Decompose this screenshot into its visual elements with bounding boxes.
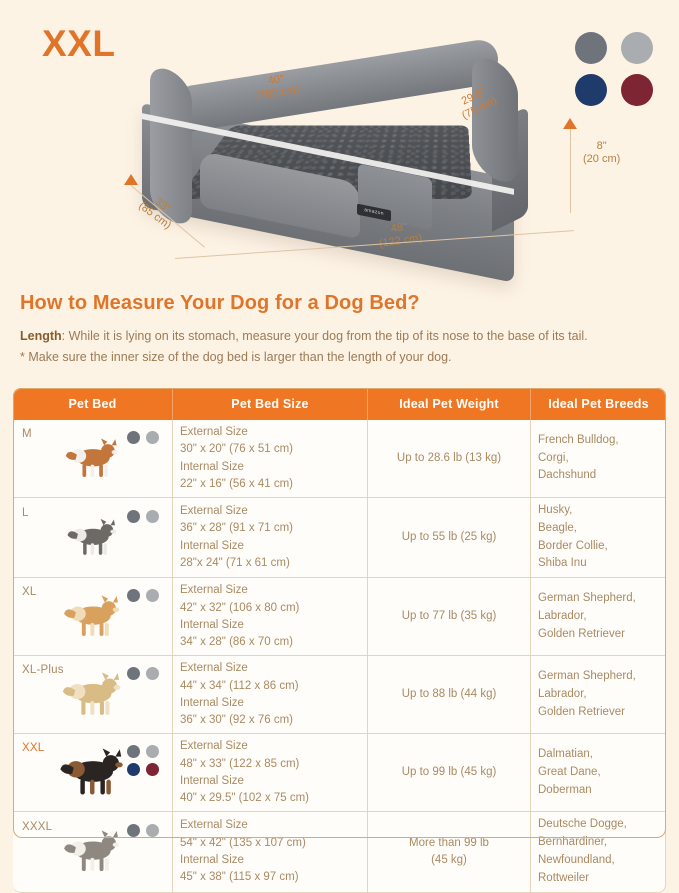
weight-value: Up to 88 lb (44 kg) [375,686,523,703]
internal-size-value: 34" x 28" (86 x 70 cm) [180,634,360,651]
row-swatch[interactable] [146,510,159,523]
leader-line-height [570,128,571,213]
cell-ideal-pet-weight: Up to 28.6 lb (13 kg) [368,420,531,498]
table-row[interactable]: XXL External Size 48" x 33" (122 x 85 cm… [13,734,666,812]
how-to-measure-section: How to Measure Your Dog for a Dog Bed? L… [20,292,660,369]
cell-pet-bed: XL [13,578,173,656]
external-size-label: External Size [180,660,360,677]
table-body: M External Size 30" x 20" (76 x 51 cm) I… [13,420,666,893]
hero-section: XXL amazon [0,0,679,278]
length-label: Length [20,329,62,343]
row-swatch-line [121,667,159,680]
weight-value: Up to 28.6 lb (13 kg) [375,450,523,467]
bed-size-label: XL [22,586,36,598]
internal-size-value: 40" x 29.5" (102 x 75 cm) [180,790,360,807]
breeds-value: Husky, Beagle, Border Collie, Shiba Inu [538,502,658,573]
external-size-value: 48" x 33" (122 x 85 cm) [180,756,360,773]
page-title: XXL [42,25,115,62]
cell-ideal-pet-breeds: French Bulldog, Corgi, Dachshund [531,420,666,498]
internal-size-label: Internal Size [180,459,360,476]
row-swatch-group[interactable] [121,745,159,781]
arrow-up-height-icon [563,118,577,129]
weight-value: Up to 55 lb (25 kg) [375,529,523,546]
column-header-pet-bed-size: Pet Bed Size [173,388,368,420]
cell-pet-bed: M [13,420,173,498]
row-swatch-group[interactable] [121,510,159,528]
bed-size-label: XXL [22,742,44,754]
external-size-value: 44" x 34" (112 x 86 cm) [180,678,360,695]
cell-ideal-pet-weight: Up to 55 lb (25 kg) [368,498,531,578]
cell-pet-bed-size: External Size 42" x 32" (106 x 80 cm) In… [173,578,368,656]
table-row[interactable]: XL External Size 42" x 32" (106 x 80 cm)… [13,578,666,656]
row-swatch-line [121,745,159,758]
cell-ideal-pet-weight: Up to 77 lb (35 kg) [368,578,531,656]
swatch-navy-blue[interactable] [575,74,607,106]
internal-size-label: Internal Size [180,695,360,712]
row-swatch-line [121,824,159,837]
bed-right-bolster [472,50,518,190]
row-swatch[interactable] [127,510,140,523]
length-text: : While it is lying on its stomach, meas… [62,329,588,343]
breeds-value: Dalmatian, Great Dane, Doberman [538,746,658,799]
cell-pet-bed-size: External Size 54" x 42" (135 x 107 cm) I… [173,812,368,892]
cell-pet-bed-size: External Size 30" x 20" (76 x 51 cm) Int… [173,420,368,498]
column-header-ideal-pet-breeds: Ideal Pet Breeds [531,388,666,420]
external-size-value: 54" x 42" (135 x 107 cm) [180,835,360,852]
internal-size-label: Internal Size [180,617,360,634]
cell-pet-bed-size: External Size 48" x 33" (122 x 85 cm) In… [173,734,368,812]
breeds-value: Deutsche Dogge, Bernhardiner, Newfoundla… [538,816,658,887]
table-row[interactable]: XL-Plus External Size 44" x 34" (112 x 8… [13,656,666,734]
breeds-value: German Shepherd, Labrador, Golden Retrie… [538,668,658,721]
cell-ideal-pet-breeds: Deutsche Dogge, Bernhardiner, Newfoundla… [531,812,666,892]
pet-bed-cell-inner: M [20,425,165,493]
dog-silhouette-icon [62,436,124,482]
internal-size-value: 22" x 16" (56 x 41 cm) [180,476,360,493]
how-to-length-line: Length: While it is lying on its stomach… [20,327,660,345]
internal-size-label: Internal Size [180,538,360,555]
cell-ideal-pet-breeds: Dalmatian, Great Dane, Doberman [531,734,666,812]
weight-value: More than 99 lb (45 kg) [375,835,523,870]
pet-bed-cell-inner: XL [20,583,165,651]
pet-bed-cell-inner: XL-Plus [20,661,165,729]
swatch-light-gray[interactable] [621,32,653,64]
swatch-row-top [575,32,661,64]
cell-pet-bed: XL-Plus [13,656,173,734]
row-swatch[interactable] [127,431,140,444]
column-header-ideal-pet-weight: Ideal Pet Weight [368,388,531,420]
pet-bed-cell-inner: XXL [20,739,165,807]
external-size-label: External Size [180,582,360,599]
dog-silhouette-icon [57,671,129,719]
cell-pet-bed: XXL [13,734,173,812]
internal-size-value: 28"x 24" (71 x 61 cm) [180,555,360,572]
row-swatch-group[interactable] [121,589,159,607]
external-size-value: 42" x 32" (106 x 80 cm) [180,600,360,617]
cell-pet-bed-size: External Size 36" x 28" (91 x 71 cm) Int… [173,498,368,578]
external-size-label: External Size [180,738,360,755]
weight-value: Up to 77 lb (35 kg) [375,608,523,625]
external-size-value: 30" x 20" (76 x 51 cm) [180,441,360,458]
dog-silhouette-icon [64,513,122,563]
internal-size-label: Internal Size [180,852,360,869]
dimension-height-cm: (20 cm) [583,153,620,166]
external-size-value: 36" x 28" (91 x 71 cm) [180,520,360,537]
internal-size-value: 45" x 38" (115 x 97 cm) [180,869,360,886]
cell-pet-bed: XXXL [13,812,173,892]
row-swatch[interactable] [146,824,159,837]
infographic-root: XXL amazon [0,0,679,849]
color-swatch-group[interactable] [575,32,661,116]
table-row[interactable]: M External Size 30" x 20" (76 x 51 cm) I… [13,420,666,498]
internal-size-label: Internal Size [180,773,360,790]
row-swatch-line [121,763,159,776]
row-swatch[interactable] [127,589,140,602]
bed-size-label: L [22,507,29,519]
arrow-depth-icon [124,174,138,185]
size-chart-table: Pet Bed Pet Bed Size Ideal Pet Weight Id… [13,388,666,893]
cell-ideal-pet-weight: Up to 88 lb (44 kg) [368,656,531,734]
row-swatch-line [121,431,159,444]
external-size-label: External Size [180,817,360,834]
table-header-row: Pet Bed Pet Bed Size Ideal Pet Weight Id… [13,388,666,420]
row-swatch[interactable] [127,824,140,837]
pet-bed-cell-inner: L [20,504,165,572]
swatch-row-bottom [575,74,661,106]
row-swatch[interactable] [127,763,140,776]
cell-pet-bed-size: External Size 44" x 34" (112 x 86 cm) In… [173,656,368,734]
row-swatch[interactable] [146,431,159,444]
internal-size-value: 36" x 30" (92 x 76 cm) [180,712,360,729]
cell-pet-bed: L [13,498,173,578]
row-swatch[interactable] [146,667,159,680]
bed-back-bolster [168,37,498,135]
cell-ideal-pet-breeds: Husky, Beagle, Border Collie, Shiba Inu [531,498,666,578]
row-swatch[interactable] [127,745,140,758]
breeds-value: French Bulldog, Corgi, Dachshund [538,432,658,485]
cell-ideal-pet-breeds: German Shepherd, Labrador, Golden Retrie… [531,578,666,656]
cell-ideal-pet-weight: More than 99 lb (45 kg) [368,812,531,892]
table-row[interactable]: XXXL External Size 54" x 42" (135 x 107 … [13,812,666,892]
bed-size-label: M [22,428,32,440]
row-swatch-group[interactable] [121,824,159,842]
row-swatch-group[interactable] [121,667,159,685]
row-swatch[interactable] [146,763,159,776]
row-swatch-line [121,589,159,602]
row-swatch[interactable] [146,589,159,602]
dimension-height: 8" (20 cm) [583,140,620,165]
table-row[interactable]: L External Size 36" x 28" (91 x 71 cm) I… [13,498,666,578]
row-swatch-line [121,510,159,523]
pet-bed-cell-inner: XXXL [20,818,165,886]
swatch-dark-red[interactable] [621,74,653,106]
row-swatch-group[interactable] [121,431,159,449]
cell-ideal-pet-breeds: German Shepherd, Labrador, Golden Retrie… [531,656,666,734]
row-swatch[interactable] [127,667,140,680]
dimension-height-in: 8" [583,140,620,153]
column-header-pet-bed: Pet Bed [13,388,173,420]
how-to-heading: How to Measure Your Dog for a Dog Bed? [20,292,660,315]
breeds-value: German Shepherd, Labrador, Golden Retrie… [538,590,658,643]
row-swatch[interactable] [146,745,159,758]
weight-value: Up to 99 lb (45 kg) [375,764,523,781]
external-size-label: External Size [180,424,360,441]
swatch-dark-gray[interactable] [575,32,607,64]
cell-ideal-pet-weight: Up to 99 lb (45 kg) [368,734,531,812]
how-to-note: * Make sure the inner size of the dog be… [20,348,660,366]
dog-silhouette-icon [58,594,128,640]
external-size-label: External Size [180,503,360,520]
